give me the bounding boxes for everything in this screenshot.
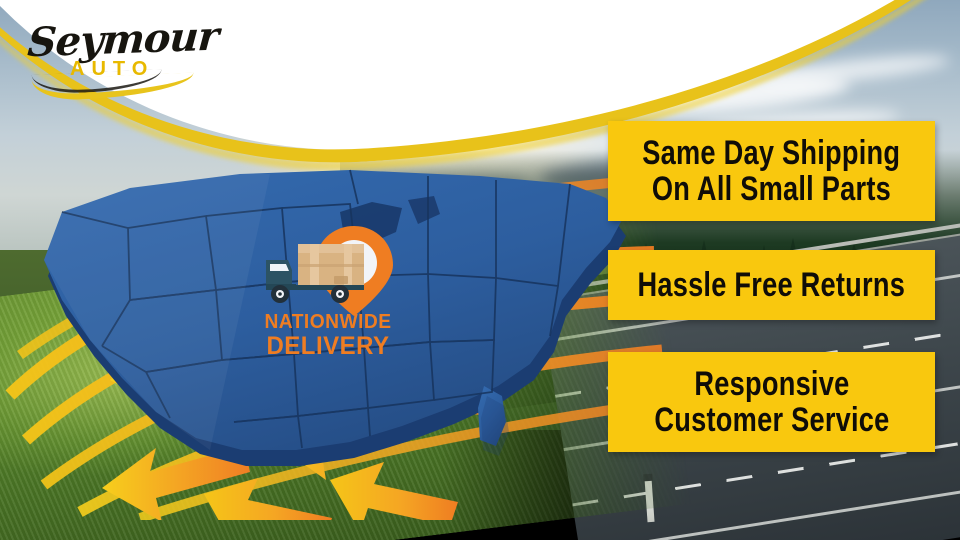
callout-line: On All Small Parts <box>652 171 891 207</box>
delivery-label-line-2: DELIVERY <box>261 334 395 359</box>
callout-line: Customer Service <box>654 402 889 438</box>
delivery-truck-icon <box>262 240 374 310</box>
promo-banner: Seymour AUTO <box>0 0 960 540</box>
callout-line: Hassle Free Returns <box>638 267 906 303</box>
callout-hassle-free-returns[interactable]: Hassle Free Returns <box>608 250 935 320</box>
delivery-label-line-1: NATIONWIDE <box>261 312 395 332</box>
callout-same-day-shipping[interactable]: Same Day Shipping On All Small Parts <box>608 121 935 221</box>
delivery-label: NATIONWIDE DELIVERY <box>258 312 398 359</box>
brand-logo[interactable]: Seymour AUTO <box>18 14 208 96</box>
brand-subname: AUTO <box>70 58 154 81</box>
callout-line: Responsive <box>694 366 849 402</box>
nationwide-delivery-graphic: NATIONWIDE DELIVERY <box>258 218 408 368</box>
callout-line: Same Day Shipping <box>642 135 900 171</box>
callout-responsive-customer-service[interactable]: Responsive Customer Service <box>608 352 935 452</box>
